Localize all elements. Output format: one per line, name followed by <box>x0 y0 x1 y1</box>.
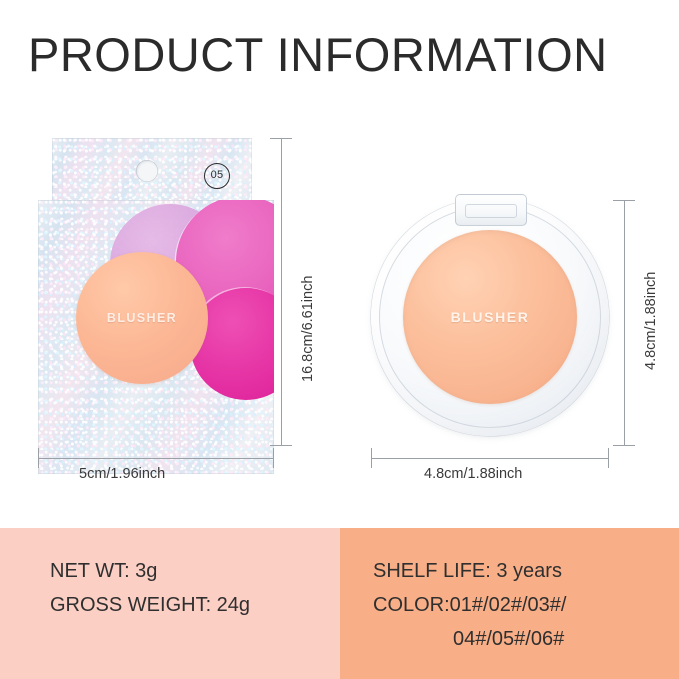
package-face-card: BLUSHER <box>38 200 274 474</box>
dim-label-compact-width: 4.8cm/1.88inch <box>424 466 522 482</box>
spec-shelf-life: SHELF LIFE: 3 years <box>373 554 679 588</box>
compact-brand-word: BLUSHER <box>451 309 530 325</box>
product-information-page: PRODUCT INFORMATION 05 BLUSHER 16.8cm/6.… <box>0 0 679 679</box>
compact-latch-tab <box>455 194 527 226</box>
dim-cap-compact-height-bottom <box>613 445 635 446</box>
spec-color-line-1: COLOR:01#/02#/03#/ <box>373 588 679 622</box>
spec-panels: NET WT: 3g GROSS WEIGHT: 24g SHELF LIFE:… <box>0 528 679 679</box>
dim-line-box-width <box>38 458 274 459</box>
spec-net-weight: NET WT: 3g <box>50 554 340 588</box>
dim-line-compact-height <box>624 200 625 445</box>
dim-label-box-width: 5cm/1.96inch <box>79 466 165 482</box>
spec-panel-shelf-color: SHELF LIFE: 3 years COLOR:01#/02#/03#/ 0… <box>340 528 679 679</box>
spec-gross-weight: GROSS WEIGHT: 24g <box>50 588 340 622</box>
dim-line-compact-width <box>371 458 609 459</box>
dim-line-box-height <box>281 138 282 445</box>
dim-cap-box-height-bottom <box>270 445 292 446</box>
spec-panel-weight: NET WT: 3g GROSS WEIGHT: 24g <box>0 528 340 679</box>
swatch-circle-peach: BLUSHER <box>76 252 208 384</box>
page-title: PRODUCT INFORMATION <box>28 26 668 84</box>
shade-number-badge: 05 <box>204 163 230 189</box>
dim-label-compact-height: 4.8cm/1.88inch <box>643 272 659 370</box>
hang-hole-icon <box>136 160 158 182</box>
compact-powder-pan: BLUSHER <box>403 230 577 404</box>
product-stage: 05 BLUSHER 16.8cm/6.61inch 5cm/1.96inch <box>0 110 679 528</box>
carded-blusher-package: 05 BLUSHER <box>38 138 274 474</box>
dim-label-box-height: 16.8cm/6.61inch <box>300 276 316 382</box>
round-blusher-compact: BLUSHER <box>371 198 609 436</box>
package-brand-word: BLUSHER <box>107 311 177 325</box>
package-hang-tab: 05 <box>52 138 252 206</box>
spec-color-line-2: 04#/05#/06# <box>373 622 679 656</box>
